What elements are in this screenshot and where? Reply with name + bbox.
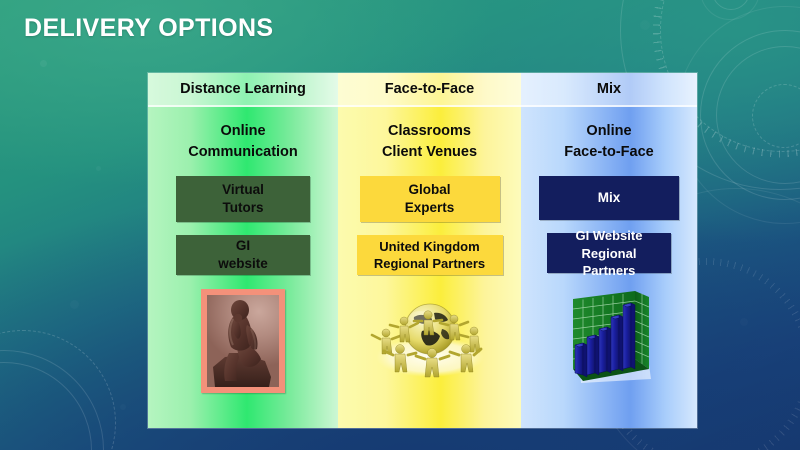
- box-line-1: Virtual: [222, 181, 264, 199]
- thinker-statue-image: [201, 289, 285, 393]
- decor-speck: [96, 166, 101, 171]
- column-header-mix: Mix: [521, 73, 697, 105]
- box-line-2: website: [218, 255, 268, 273]
- decor-speck: [740, 318, 748, 326]
- thinker-statue-canvas: [207, 295, 279, 387]
- box-line-1: Mix: [598, 189, 621, 207]
- box-gi-website[interactable]: GI website: [176, 235, 310, 275]
- column-subtitle-face-to-face: Classrooms Client Venues: [382, 121, 477, 162]
- box-line-1: Global: [405, 181, 455, 199]
- box-line-1: GI: [218, 237, 268, 255]
- subtitle-line-1: Online: [188, 121, 298, 142]
- column-mix: Mix Online Face-to-Face Mix GI Website R…: [521, 73, 697, 428]
- bar-chart-3d-image: [561, 287, 657, 387]
- delivery-options-table: Distance Learning Online Communication V…: [148, 73, 697, 428]
- decor-ring-10: [0, 330, 116, 450]
- column-subtitle-mix: Online Face-to-Face: [564, 121, 653, 162]
- box-mix[interactable]: Mix: [539, 176, 679, 220]
- box-line-3: Partners: [576, 262, 643, 279]
- box-line-2: Experts: [405, 199, 455, 217]
- image-frame-thinker: [201, 289, 285, 393]
- subtitle-line-2: Client Venues: [382, 142, 477, 163]
- subtitle-line-1: Classrooms: [382, 121, 477, 142]
- subtitle-line-2: Face-to-Face: [564, 142, 653, 163]
- image-frame-globe: [370, 289, 490, 381]
- box-uk-regional-partners[interactable]: United Kingdom Regional Partners: [357, 235, 503, 275]
- box-line-2: Tutors: [222, 199, 264, 217]
- subtitle-line-1: Online: [564, 121, 653, 142]
- column-header-face-to-face: Face-to-Face: [338, 73, 521, 105]
- box-line-1: GI Website: [576, 227, 643, 244]
- decor-speck: [40, 60, 47, 67]
- box-gi-website-regional-partners[interactable]: GI Website Regional Partners: [547, 233, 671, 273]
- box-virtual-tutors[interactable]: Virtual Tutors: [176, 176, 310, 222]
- column-header-distance-learning: Distance Learning: [148, 73, 338, 105]
- decor-speck: [120, 404, 126, 410]
- image-frame-chart: [561, 287, 657, 387]
- decor-speck: [640, 20, 650, 30]
- box-global-experts[interactable]: Global Experts: [360, 176, 500, 222]
- column-subtitle-distance-learning: Online Communication: [188, 121, 298, 162]
- column-distance-learning: Distance Learning Online Communication V…: [148, 73, 338, 428]
- box-line-1: United Kingdom: [374, 238, 485, 255]
- slide-title: DELIVERY OPTIONS: [24, 14, 274, 43]
- thinker-statue-silhouette: [207, 295, 279, 387]
- box-line-2: Regional: [576, 245, 643, 262]
- column-face-to-face: Face-to-Face Classrooms Client Venues Gl…: [338, 73, 521, 428]
- box-line-2: Regional Partners: [374, 255, 485, 272]
- bar-chart-3d-graphic: [561, 287, 657, 387]
- globe-with-people-figures: [370, 289, 490, 381]
- decor-speck: [70, 300, 79, 309]
- slide-canvas: DELIVERY OPTIONS Distance Learning Onlin…: [0, 0, 800, 450]
- subtitle-line-2: Communication: [188, 142, 298, 163]
- people-around-globe-image: [370, 289, 490, 381]
